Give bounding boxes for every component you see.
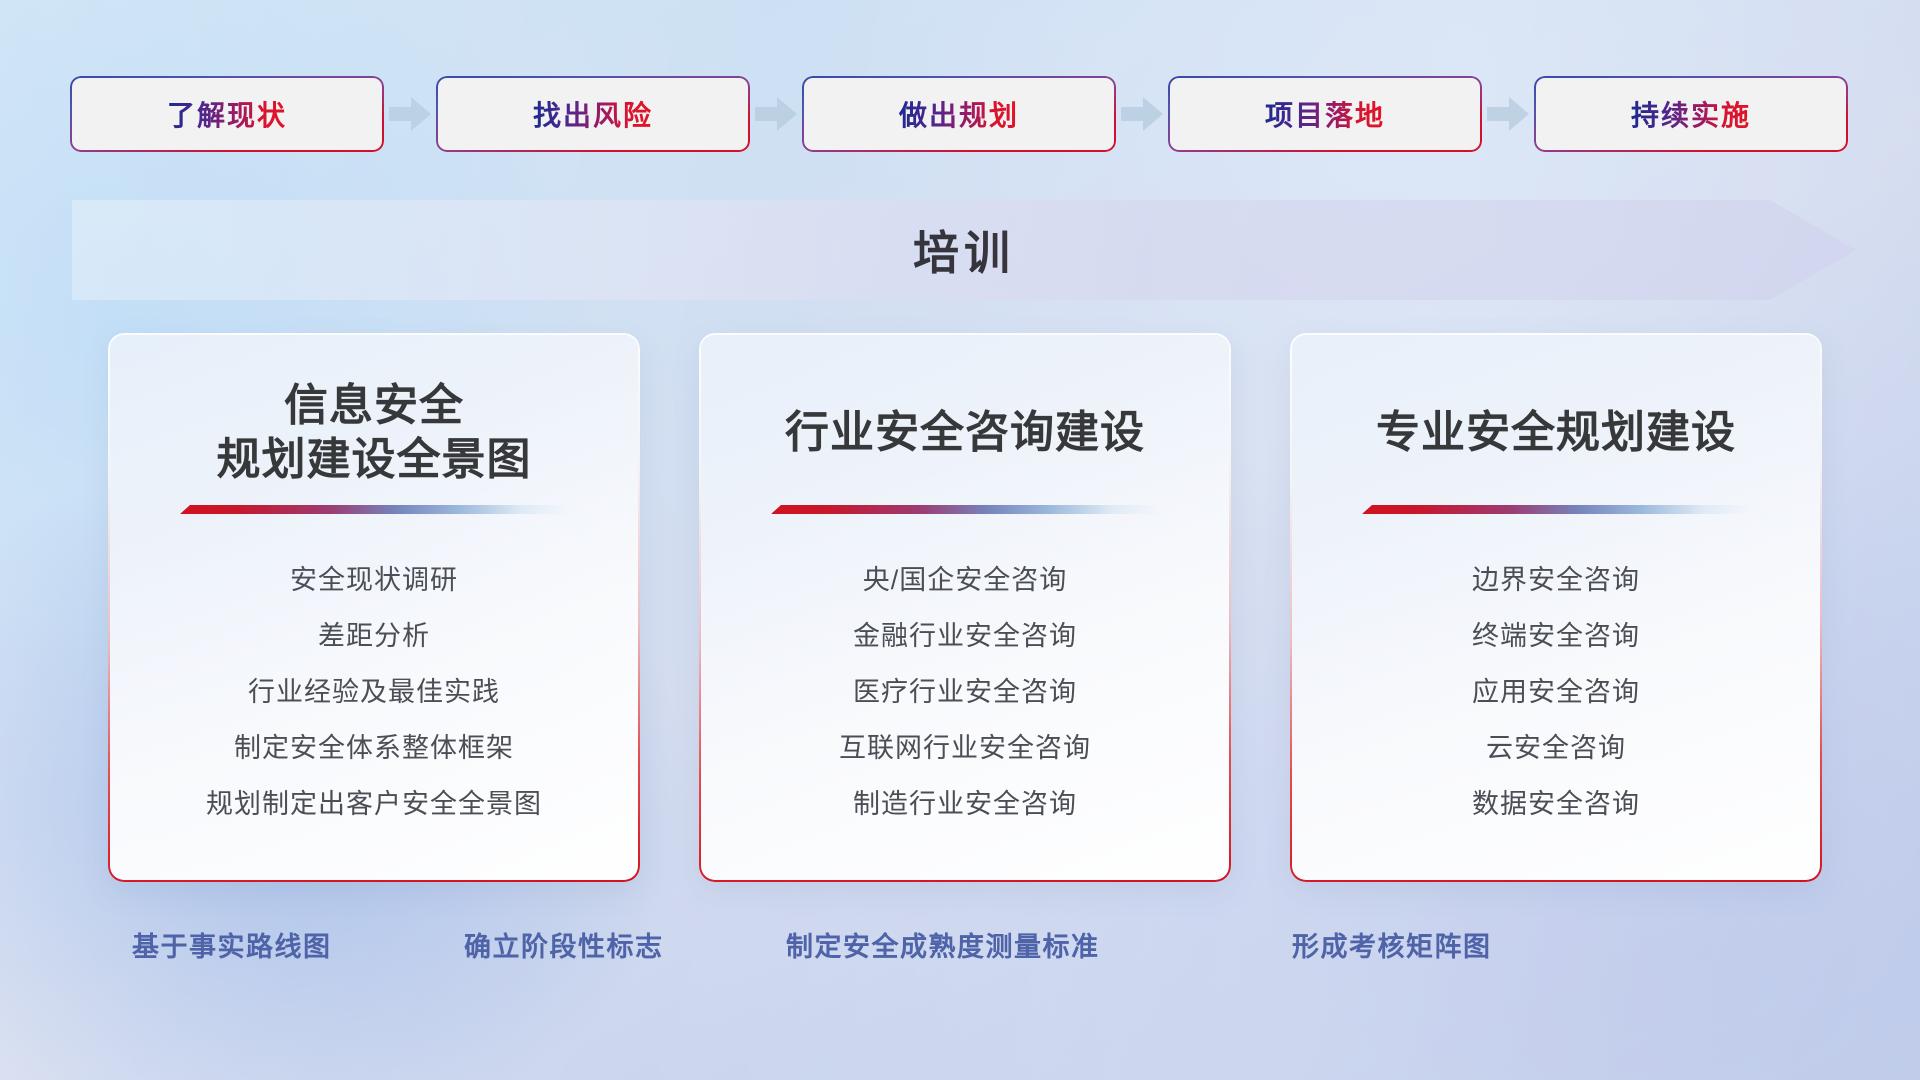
- card-item-list: 央/国企安全咨询金融行业安全咨询医疗行业安全咨询互联网行业安全咨询制造行业安全咨…: [839, 558, 1091, 821]
- card-item-list: 安全现状调研差距分析行业经验及最佳实践制定安全体系整体框架规划制定出客户安全全景…: [206, 558, 542, 821]
- service-card-1[interactable]: 信息安全规划建设全景图安全现状调研差距分析行业经验及最佳实践制定安全体系整体框架…: [110, 335, 638, 880]
- process-step-3[interactable]: 做出规划: [804, 78, 1114, 150]
- footnote-row: 基于事实路线图确立阶段性标志制定安全成熟度测量标准形成考核矩阵图: [0, 925, 1920, 985]
- list-item[interactable]: 互联网行业安全咨询: [839, 726, 1091, 765]
- list-item[interactable]: 医疗行业安全咨询: [853, 670, 1077, 709]
- process-step-5[interactable]: 持续实施: [1536, 78, 1846, 150]
- footnote-label-1: 基于事实路线图: [132, 925, 332, 964]
- process-step-4[interactable]: 项目落地: [1170, 78, 1480, 150]
- footnote-label-3: 制定安全成熟度测量标准: [786, 925, 1100, 964]
- card-item-list: 边界安全咨询终端安全咨询应用安全咨询云安全咨询数据安全咨询: [1472, 558, 1640, 821]
- card-inner: 行业安全咨询建设央/国企安全咨询金融行业安全咨询医疗行业安全咨询互联网行业安全咨…: [701, 335, 1229, 880]
- list-item[interactable]: 数据安全咨询: [1472, 782, 1640, 821]
- card-title-line: 专业安全规划建设: [1376, 406, 1736, 460]
- card-title-line: 规划建设全景图: [217, 433, 532, 487]
- process-step-1[interactable]: 了解现状: [72, 78, 382, 150]
- list-item[interactable]: 差距分析: [318, 614, 430, 653]
- card-inner: 信息安全规划建设全景图安全现状调研差距分析行业经验及最佳实践制定安全体系整体框架…: [110, 335, 638, 880]
- service-card-2[interactable]: 行业安全咨询建设央/国企安全咨询金融行业安全咨询医疗行业安全咨询互联网行业安全咨…: [701, 335, 1229, 880]
- list-item[interactable]: 金融行业安全咨询: [853, 614, 1077, 653]
- arrow-right-icon: [382, 78, 438, 150]
- process-step-label: 了解现状: [167, 94, 287, 134]
- process-step-label: 做出规划: [899, 94, 1019, 134]
- card-title-line: 行业安全咨询建设: [785, 406, 1145, 460]
- process-step-2[interactable]: 找出风险: [438, 78, 748, 150]
- card-title: 信息安全规划建设全景图: [217, 377, 532, 489]
- list-item[interactable]: 制造行业安全咨询: [853, 782, 1077, 821]
- service-card-3[interactable]: 专业安全规划建设边界安全咨询终端安全咨询应用安全咨询云安全咨询数据安全咨询: [1292, 335, 1820, 880]
- list-item[interactable]: 制定安全体系整体框架: [234, 726, 514, 765]
- card-title: 行业安全咨询建设: [785, 377, 1145, 489]
- card-divider: [771, 505, 1159, 514]
- training-banner: 培训: [72, 200, 1856, 300]
- arrow-right-icon: [748, 78, 804, 150]
- process-step-bar: 了解现状找出风险做出规划项目落地持续实施: [72, 78, 1848, 150]
- list-item[interactable]: 终端安全咨询: [1472, 614, 1640, 653]
- process-step-label: 项目落地: [1265, 94, 1385, 134]
- banner-title: 培训: [72, 217, 1856, 283]
- list-item[interactable]: 央/国企安全咨询: [863, 558, 1068, 597]
- card-title: 专业安全规划建设: [1376, 377, 1736, 489]
- footnote-label-2: 确立阶段性标志: [464, 925, 664, 964]
- list-item[interactable]: 边界安全咨询: [1472, 558, 1640, 597]
- card-row: 信息安全规划建设全景图安全现状调研差距分析行业经验及最佳实践制定安全体系整体框架…: [110, 335, 1820, 880]
- list-item[interactable]: 云安全咨询: [1486, 726, 1626, 765]
- process-step-label: 找出风险: [533, 94, 653, 134]
- footnote-label-4: 形成考核矩阵图: [1292, 925, 1492, 964]
- arrow-right-icon: [1114, 78, 1170, 150]
- card-divider: [180, 505, 568, 514]
- card-title-line: 信息安全: [217, 379, 532, 433]
- card-divider: [1362, 505, 1750, 514]
- list-item[interactable]: 行业经验及最佳实践: [248, 670, 500, 709]
- list-item[interactable]: 应用安全咨询: [1472, 670, 1640, 709]
- list-item[interactable]: 安全现状调研: [290, 558, 458, 597]
- arrow-right-icon: [1480, 78, 1536, 150]
- card-inner: 专业安全规划建设边界安全咨询终端安全咨询应用安全咨询云安全咨询数据安全咨询: [1292, 335, 1820, 880]
- list-item[interactable]: 规划制定出客户安全全景图: [206, 782, 542, 821]
- process-step-label: 持续实施: [1631, 94, 1751, 134]
- slide-canvas: 了解现状找出风险做出规划项目落地持续实施 培训 信息安全规划建设全景图安全现状调…: [0, 0, 1920, 1080]
